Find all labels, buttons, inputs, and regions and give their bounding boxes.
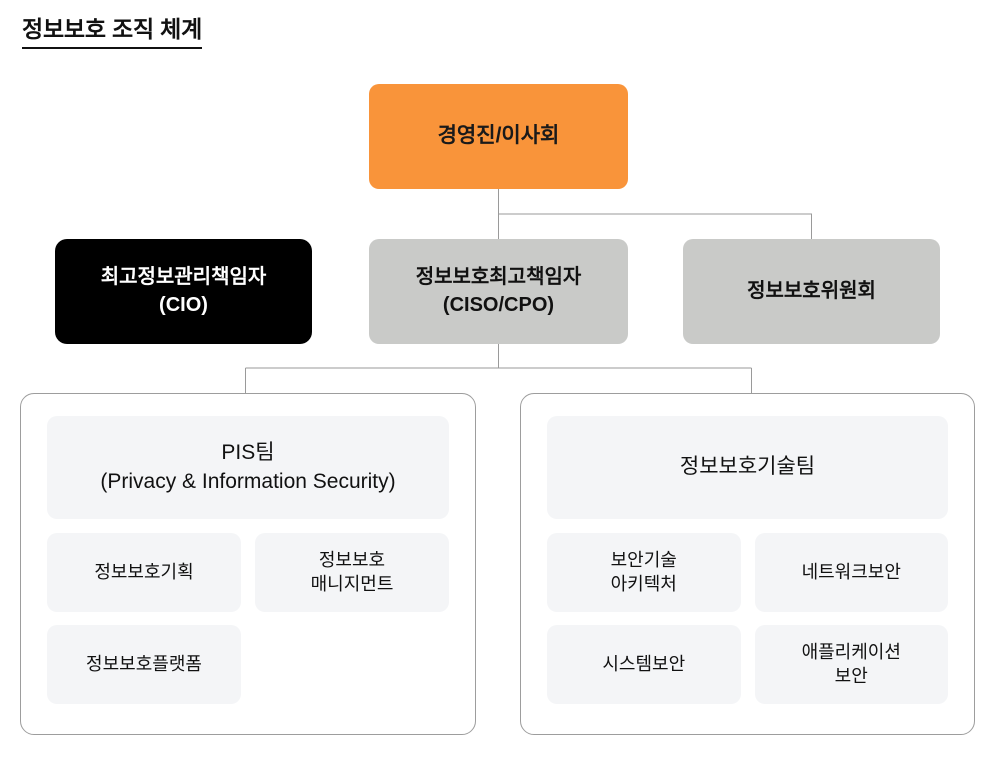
sub-team-item[interactable]: 정보보호플랫폼	[47, 625, 241, 704]
sub-team-item[interactable]: 네트워크보안	[755, 533, 949, 612]
node-cio[interactable]: 최고정보관리책임자 (CIO)	[55, 239, 312, 344]
node-ciso-cpo[interactable]: 정보보호최고책임자 (CISO/CPO)	[369, 239, 628, 344]
sub-team-item[interactable]: 애플리케이션 보안	[755, 625, 949, 704]
org-chart-canvas: 정보보호 조직 체계 경영진/이사회 최고정보관리책임자 (CIO) 정보보호최…	[0, 0, 1003, 765]
connector-exec-to-committee	[499, 214, 812, 239]
node-executive-board[interactable]: 경영진/이사회	[369, 84, 628, 189]
panel-pis-team: PIS팀 (Privacy & Information Security) 정보…	[20, 393, 476, 735]
page-title: 정보보호 조직 체계	[22, 16, 202, 49]
node-security-committee[interactable]: 정보보호위원회	[683, 239, 940, 344]
sub-team-grid-pis: 정보보호기획 정보보호 매니지먼트 정보보호플랫폼	[47, 533, 449, 704]
team-header-pis[interactable]: PIS팀 (Privacy & Information Security)	[47, 416, 449, 519]
sub-team-item[interactable]: 보안기술 아키텍처	[547, 533, 741, 612]
panel-security-tech-team: 정보보호기술팀 보안기술 아키텍처 네트워크보안 시스템보안 애플리케이션 보안	[520, 393, 975, 735]
sub-team-item[interactable]: 시스템보안	[547, 625, 741, 704]
sub-team-grid-security-tech: 보안기술 아키텍처 네트워크보안 시스템보안 애플리케이션 보안	[547, 533, 948, 704]
team-header-security-tech[interactable]: 정보보호기술팀	[547, 416, 948, 519]
sub-team-item[interactable]: 정보보호 매니지먼트	[255, 533, 449, 612]
sub-team-item[interactable]: 정보보호기획	[47, 533, 241, 612]
